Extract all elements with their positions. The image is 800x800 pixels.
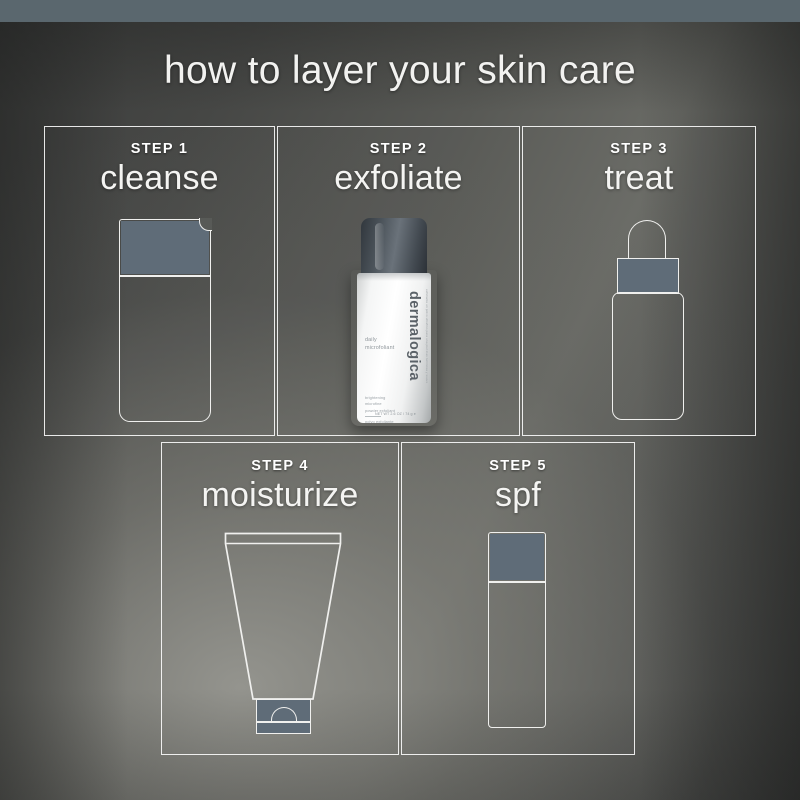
step-title-1: cleanse [45,160,274,197]
step-title-4: moisturize [162,477,398,514]
pump-bottle-icon [119,219,211,422]
cleanse-bottle-cap [121,221,209,274]
exfoliate-cap-highlight [375,223,384,270]
step-title-2: exfoliate [278,160,519,197]
cleanse-cap-divider [119,275,211,277]
step-number-5: STEP 5 [402,458,634,474]
step-title-3: treat [523,160,755,197]
step-number-4: STEP 4 [162,458,398,474]
moisturizer-cap-divider [256,721,311,723]
skincare-layering-infographic: how to layer your skin care STEP 1 clean… [0,0,800,800]
exfoliate-bottle-body: dermalogica exfoliante en polvo ultrafin… [357,273,431,423]
moisturizer-tube-outline [223,531,343,707]
exfoliate-description-en: brightening microfine powder exfoliant [365,395,395,414]
dermalogica-powder-bottle-photo: dermalogica exfoliante en polvo ultrafin… [355,218,433,423]
dropper-bottle-body [612,292,684,420]
page-title: how to layer your skin care [0,49,800,93]
squeeze-tube-icon [223,531,343,736]
step-heading-treat: STEP 3 treat [523,127,755,197]
step-number-1: STEP 1 [45,141,274,157]
step-heading-cleanse: STEP 1 cleanse [45,127,274,197]
slim-spray-bottle-icon [488,532,546,728]
spf-cap-divider [488,581,546,583]
exfoliate-description-alt: polvo exfoliante luminoso y microfino [365,419,395,423]
exfoliate-net-weight: NET WT 2.6 OZ / 74 g e [375,412,416,416]
step-heading-exfoliate: STEP 2 exfoliate [278,127,519,197]
step-number-2: STEP 2 [278,141,519,157]
step-heading-spf: STEP 5 spf [402,443,634,514]
spf-bottle-cap [490,534,544,580]
exfoliate-bottle-cap [361,218,427,276]
step-title-5: spf [402,477,634,514]
exfoliate-product-name: daily microfoliant [365,336,394,353]
exfoliate-description: brightening microfine powder exfoliant p… [365,395,395,423]
step-heading-moisturize: STEP 4 moisturize [162,443,398,514]
exfoliate-bottle-shoulder [357,273,431,281]
dropper-collar [617,258,679,294]
exfoliate-brand-text: dermalogica [407,291,422,381]
moisturizer-tube-body [223,531,343,703]
top-color-band [0,0,800,22]
exfoliate-description-divider [365,416,381,417]
exfoliate-side-microcopy: exfoliante en polvo ultrafino para una p… [425,289,428,417]
dropper-bottle-icon [612,220,684,420]
step-number-3: STEP 3 [523,141,755,157]
